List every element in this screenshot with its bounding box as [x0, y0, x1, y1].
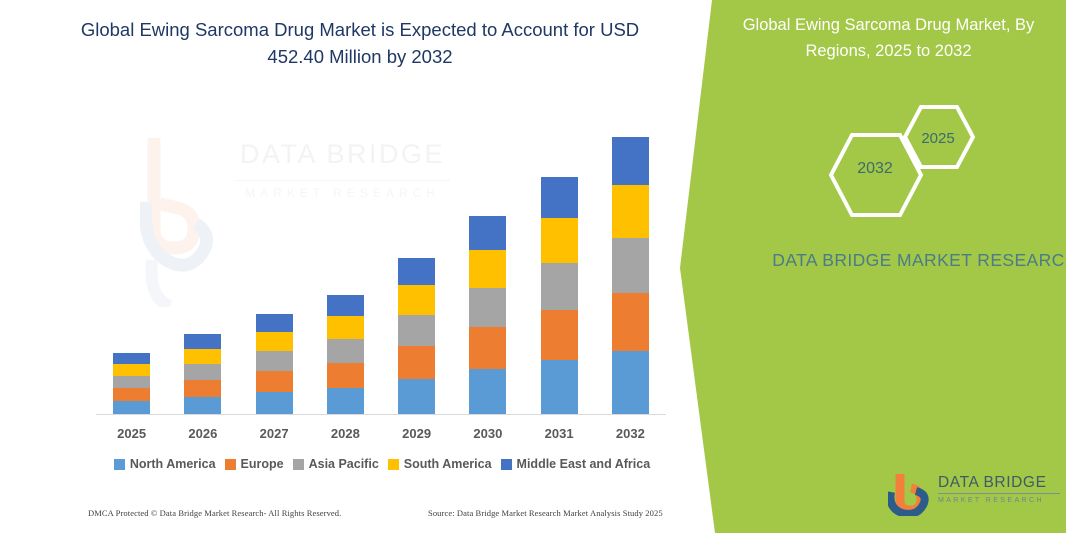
bar-segment [113, 376, 150, 388]
bar-segment [541, 177, 578, 218]
bar-segment [184, 380, 221, 397]
bar-segment [113, 364, 150, 376]
x-axis-tick: 2032 [595, 426, 665, 441]
bar-segment [469, 369, 506, 415]
legend-label: Asia Pacific [309, 457, 379, 471]
plot-area [96, 120, 666, 415]
bar-segment [184, 349, 221, 364]
x-axis-line [96, 414, 666, 415]
bar-segment [256, 392, 293, 415]
legend-label: South America [404, 457, 492, 471]
logo-subtitle: MARKET RESEARCH [938, 497, 1060, 504]
bar-segment [541, 263, 578, 310]
bar-segment [256, 351, 293, 371]
bar-segment [469, 250, 506, 288]
bar-segment [541, 360, 578, 415]
bar-segment [256, 314, 293, 332]
x-axis-tick: 2026 [168, 426, 238, 441]
legend-item[interactable]: North America [114, 457, 216, 471]
bar-segment [612, 185, 649, 238]
chart-panel: Global Ewing Sarcoma Drug Market is Expe… [0, 0, 716, 533]
bar-segment [612, 137, 649, 185]
copyright-notice: DMCA Protected © Data Bridge Market Rese… [88, 508, 341, 518]
legend-label: Europe [241, 457, 284, 471]
company-logo: DATA BRIDGE MARKET RESEARCH [888, 472, 1058, 518]
bar-segment [184, 397, 221, 415]
legend-item[interactable]: Middle East and Africa [501, 457, 651, 471]
bar-segment [184, 334, 221, 349]
legend-label: North America [130, 457, 216, 471]
bar-column [469, 216, 506, 415]
legend-label: Middle East and Africa [517, 457, 651, 471]
bar-segment [612, 351, 649, 415]
chart-title: Global Ewing Sarcoma Drug Market is Expe… [60, 16, 660, 70]
bar-segment [398, 379, 435, 415]
bar-segment [256, 332, 293, 351]
bar-column [612, 137, 649, 415]
bar-segment [541, 218, 578, 263]
bar-segment [327, 339, 364, 363]
bar-segment [113, 353, 150, 364]
legend-swatch [114, 459, 125, 470]
bar-segment [113, 401, 150, 415]
x-axis-labels: 20252026202720282029203020312032 [96, 426, 666, 446]
bar-segment [327, 388, 364, 415]
green-panel-title: Global Ewing Sarcoma Drug Market, By Reg… [716, 12, 1061, 64]
legend-swatch [225, 459, 236, 470]
x-axis-tick: 2028 [310, 426, 380, 441]
bar-column [541, 177, 578, 415]
databridge-logo-icon [888, 472, 934, 516]
bar-segment [469, 288, 506, 327]
bar-segment [612, 293, 649, 351]
bar-segment [398, 346, 435, 379]
x-axis-tick: 2027 [239, 426, 309, 441]
bar-segment [113, 388, 150, 401]
legend-item[interactable]: Asia Pacific [293, 457, 379, 471]
bar-segment [327, 295, 364, 316]
bar-column [184, 334, 221, 415]
bar-segment [398, 315, 435, 346]
brand-name: DATA BRIDGE MARKET RESEARCH [760, 248, 1066, 273]
bar-segment [256, 371, 293, 392]
hexagon-2025-label: 2025 [908, 130, 968, 147]
bar-column [327, 295, 364, 415]
x-axis-tick: 2029 [382, 426, 452, 441]
infographic-canvas: Global Ewing Sarcoma Drug Market is Expe… [0, 0, 1066, 533]
bar-column [398, 258, 435, 415]
logo-wordmark: DATA BRIDGE MARKET RESEARCH [938, 474, 1060, 504]
bar-segment [612, 238, 649, 293]
bar-segment [398, 258, 435, 285]
hexagon-2032-label: 2032 [838, 160, 912, 178]
legend-swatch [388, 459, 399, 470]
bar-column [256, 314, 293, 415]
x-axis-tick: 2031 [524, 426, 594, 441]
logo-name: DATA BRIDGE [938, 474, 1060, 494]
bar-segment [398, 285, 435, 315]
bar-segment [469, 216, 506, 250]
bar-segment [469, 327, 506, 369]
legend-item[interactable]: Europe [225, 457, 284, 471]
bar-segment [541, 310, 578, 360]
bar-column [113, 353, 150, 415]
chart-legend: North AmericaEuropeAsia PacificSouth Ame… [96, 457, 668, 471]
bar-segment [327, 363, 364, 388]
legend-swatch [293, 459, 304, 470]
bar-segment [327, 316, 364, 339]
x-axis-tick: 2025 [97, 426, 167, 441]
legend-swatch [501, 459, 512, 470]
x-axis-tick: 2030 [453, 426, 523, 441]
legend-item[interactable]: South America [388, 457, 492, 471]
source-notice: Source: Data Bridge Market Research Mark… [428, 508, 663, 518]
bar-segment [184, 364, 221, 380]
